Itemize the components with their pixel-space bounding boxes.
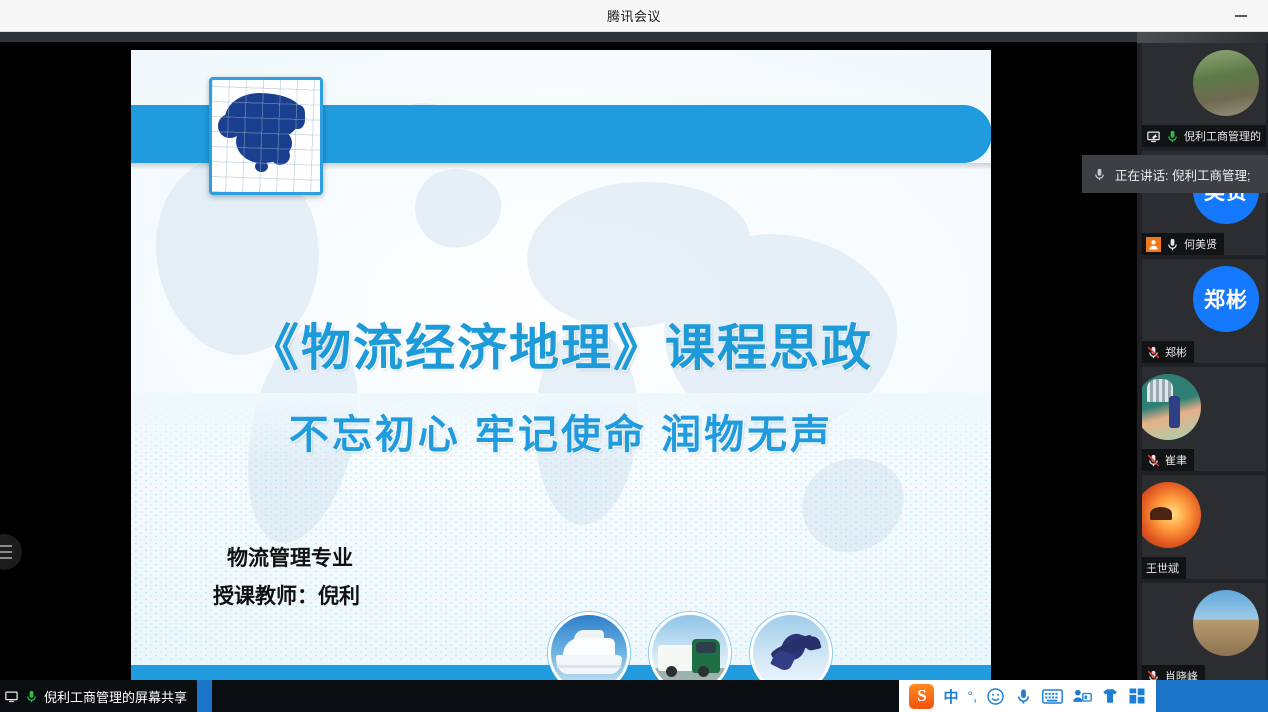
sidebar-toggle-handle[interactable] (0, 534, 22, 570)
taskbar-item-label: 倪利工商管理的屏幕共享 (44, 687, 187, 706)
participant-rail[interactable]: 倪利工商管理的 美贤 何美贤 郑彬 (1137, 32, 1268, 680)
participant-label: 王世斌 (1142, 557, 1186, 579)
speaking-text: 正在讲话: 倪利工商管理; (1115, 165, 1250, 184)
participant-label: 倪利工商管理的 (1142, 125, 1266, 147)
participant-name: 何美贤 (1184, 236, 1217, 252)
slide-teacher: 授课教师：倪利 (213, 578, 360, 616)
window-titlebar: 腾讯会议 (0, 0, 1268, 32)
microphone-muted-icon (1146, 453, 1161, 468)
participant-tile[interactable]: 王世斌 (1142, 475, 1266, 579)
participant-label: 郑彬 (1142, 341, 1194, 363)
user-center-icon[interactable] (1072, 687, 1092, 705)
minimize-icon (1235, 15, 1247, 17)
participant-name: 崔聿 (1165, 452, 1187, 468)
soft-keyboard-icon[interactable] (1042, 688, 1063, 705)
participant-label: 何美贤 (1142, 233, 1224, 255)
punctuation-mode-icon[interactable]: °, (968, 688, 978, 704)
participant-name: 倪利工商管理的 (1184, 128, 1261, 144)
participant-tile[interactable]: 肖晓峰 (1142, 583, 1266, 687)
slide-title: 《物流经济地理》课程思政 (131, 308, 991, 380)
microphone-icon (1165, 129, 1180, 144)
shared-screen-stage: 《物流经济地理》课程思政 不忘初心 牢记使命 润物无声 物流管理专业 授课教师：… (0, 32, 1268, 712)
taskbar-item-screenshare[interactable]: 倪利工商管理的屏幕共享 (0, 680, 197, 712)
taskbar-dark-area (212, 680, 940, 712)
hamburger-icon (0, 551, 12, 553)
chinese-mode-icon[interactable]: 中 (943, 686, 958, 707)
sogou-logo-icon[interactable]: S (909, 684, 934, 709)
person-icon (1146, 237, 1161, 252)
skin-icon[interactable] (1101, 687, 1119, 705)
avatar (1193, 590, 1259, 656)
participant-label: 崔聿 (1142, 449, 1194, 471)
monitor-icon (4, 689, 19, 704)
taskbar: 倪利工商管理的屏幕共享 S 中 °, (0, 680, 1268, 712)
microphone-icon (24, 689, 39, 704)
shared-slide[interactable]: 《物流经济地理》课程思政 不忘初心 牢记使命 润物无声 物流管理专业 授课教师：… (131, 50, 991, 710)
avatar (1142, 374, 1201, 440)
microphone-icon (1165, 237, 1180, 252)
emoji-icon[interactable] (986, 687, 1005, 706)
asia-map-thumbnail (209, 77, 323, 195)
slide-subtitle: 不忘初心 牢记使命 润物无声 (131, 402, 991, 460)
participant-tile[interactable]: 倪利工商管理的 (1142, 43, 1266, 147)
meeting-window: 腾讯会议 《物流经济地理》课程思政 不忘初心 牢记使命 (0, 0, 1268, 712)
avatar: 郑彬 (1193, 266, 1259, 332)
avatar (1142, 482, 1201, 548)
taskbar-right-blank (1156, 680, 1268, 712)
toolbox-icon[interactable] (1128, 687, 1146, 705)
hamburger-icon (0, 545, 12, 547)
participant-name: 王世斌 (1146, 560, 1179, 576)
participant-name: 郑彬 (1165, 344, 1187, 360)
stage-top-strip (0, 32, 1137, 42)
minimize-button[interactable] (1224, 0, 1258, 32)
avatar (1193, 50, 1259, 116)
hamburger-icon (0, 557, 12, 559)
microphone-muted-icon (1146, 345, 1161, 360)
sogou-ime-tray: S 中 °, (899, 680, 1156, 712)
window-title: 腾讯会议 (607, 6, 661, 25)
slide-meta: 物流管理专业 授课教师：倪利 (213, 540, 360, 616)
screen-share-icon (1146, 129, 1161, 144)
speaking-toast: 正在讲话: 倪利工商管理; (1082, 155, 1268, 193)
rail-top-gradient (1137, 32, 1268, 43)
participant-tile[interactable]: 郑彬 郑彬 (1142, 259, 1266, 363)
participant-tile[interactable]: 崔聿 (1142, 367, 1266, 471)
slide-major: 物流管理专业 (227, 540, 360, 578)
microphone-icon (1092, 167, 1107, 182)
voice-input-icon[interactable] (1014, 687, 1033, 706)
